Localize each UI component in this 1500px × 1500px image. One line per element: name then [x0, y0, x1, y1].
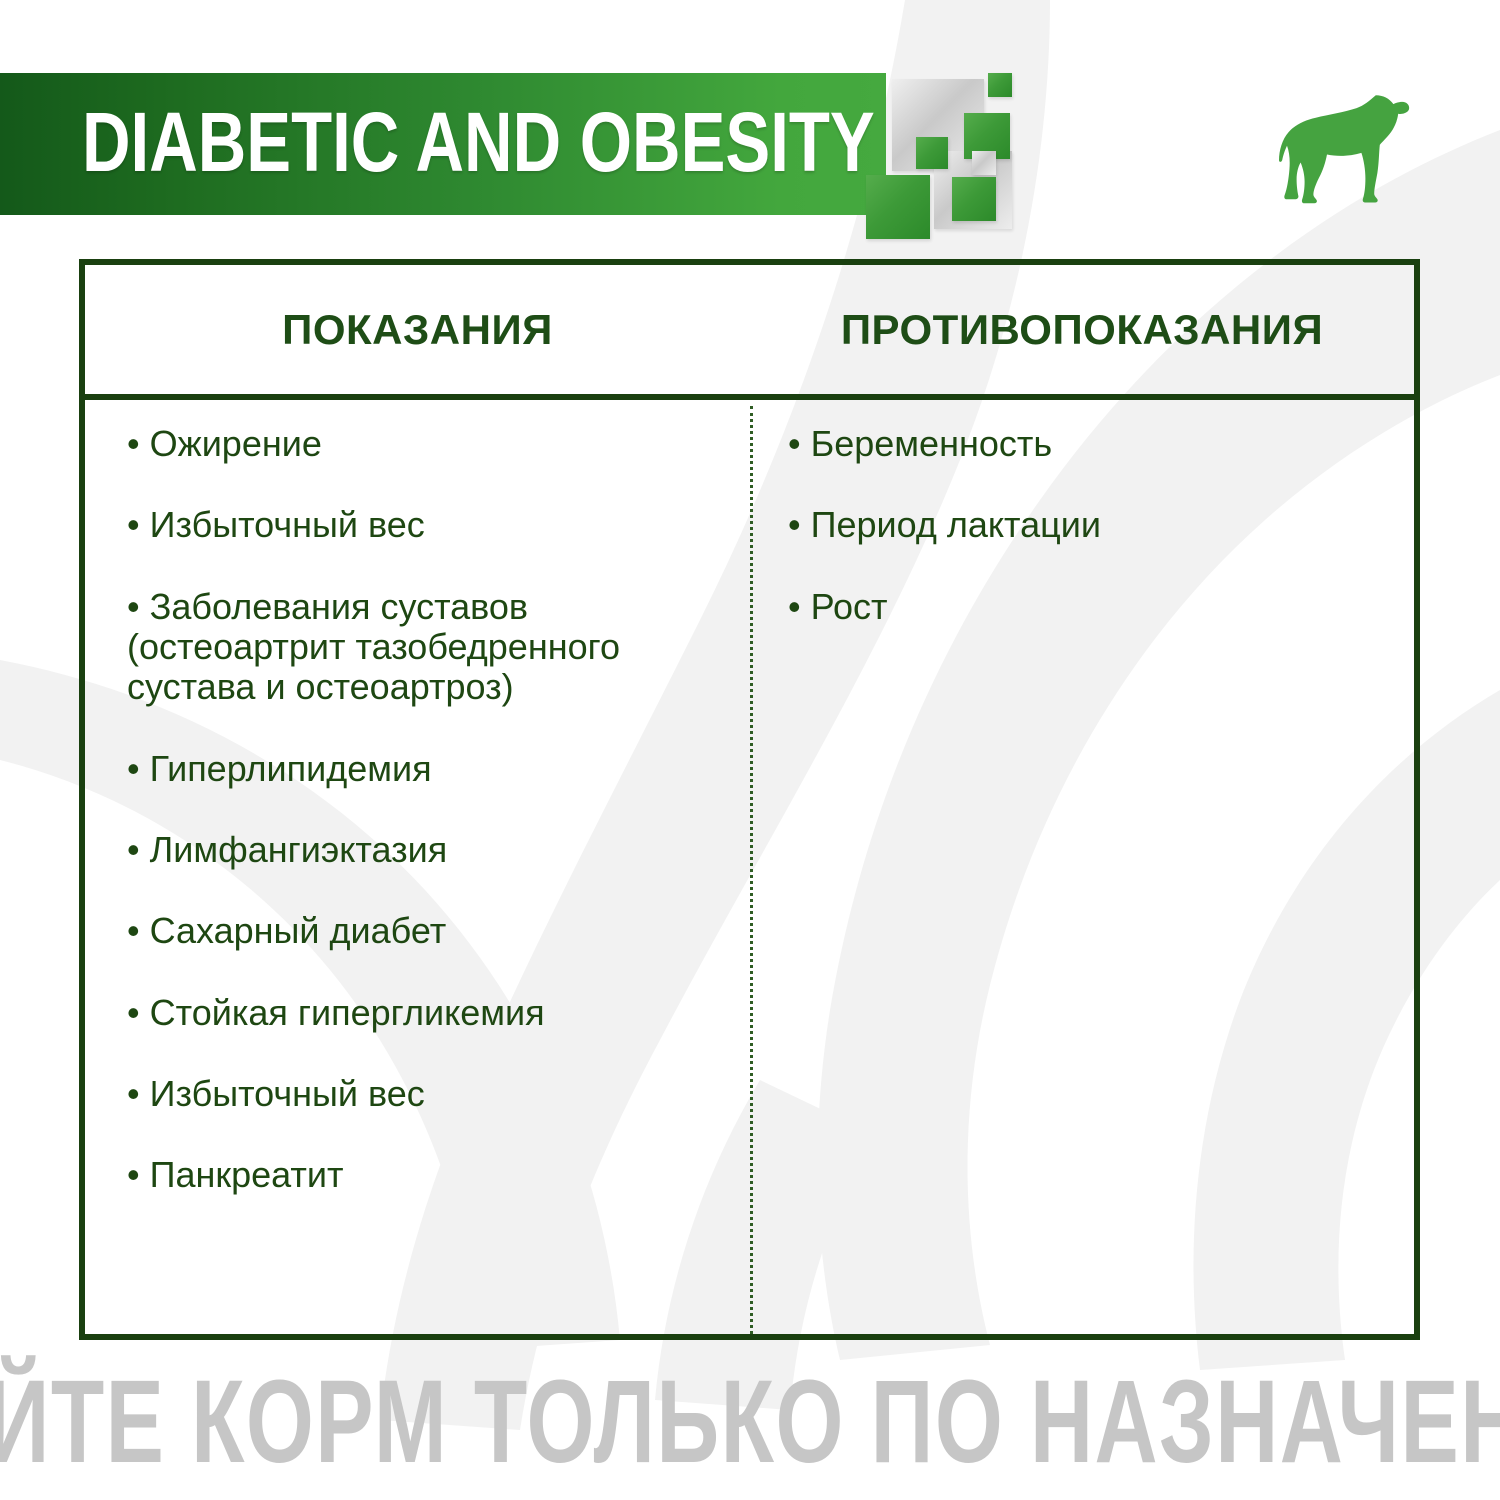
- list-item: • Панкреатит: [127, 1155, 734, 1195]
- dog-silhouette-icon: [1255, 78, 1415, 223]
- list-item-text: • Рост: [788, 586, 888, 627]
- list-item-text: • Беременность: [788, 423, 1052, 464]
- list-item-text: • Сахарный диабет: [127, 910, 446, 951]
- list-item-text: • Панкреатит: [127, 1154, 344, 1195]
- list-item: • Сахарный диабет: [127, 911, 734, 951]
- table-header-row: ПОКАЗАНИЯ ПРОТИВОПОКАЗАНИЯ: [85, 265, 1414, 400]
- list-item-text: • Период лактации: [788, 504, 1101, 545]
- list-item: • Ожирение: [127, 424, 734, 464]
- banner-title: DIABETIC AND OBESITY: [82, 71, 875, 213]
- column-header-contraindications: ПРОТИВОПОКАЗАНИЯ: [750, 265, 1414, 394]
- page-root: DIABETIC AND OBESITY ПОКАЗАНИЯ ПРОТИВОПО…: [0, 0, 1500, 1500]
- list-item-text: • Избыточный вес: [127, 1073, 425, 1114]
- list-item: • Избыточный вес: [127, 505, 734, 545]
- footer-note: ИСПОЛЬЗУЙТЕ КОРМ ТОЛЬКО ПО НАЗНАЧЕНИЮ ВР…: [0, 1352, 1500, 1492]
- contraindications-column: • Беременность • Период лактации • Рост: [750, 400, 1414, 1334]
- list-item: • Беременность: [788, 424, 1398, 464]
- list-item: • Стойкая гипергликемия: [127, 993, 734, 1033]
- indications-table: ПОКАЗАНИЯ ПРОТИВОПОКАЗАНИЯ • Ожирение • …: [79, 259, 1420, 1340]
- list-item: • Лимфангиэктазия: [127, 830, 734, 870]
- list-item: • Избыточный вес: [127, 1074, 734, 1114]
- footer-note-text: ИСПОЛЬЗУЙТЕ КОРМ ТОЛЬКО ПО НАЗНАЧЕНИЮ ВР…: [0, 1363, 1500, 1481]
- list-item: • Гиперлипидемия: [127, 749, 734, 789]
- list-item-text: • Стойкая гипергликемия: [127, 992, 545, 1033]
- list-item-text: • Избыточный вес: [127, 504, 425, 545]
- list-item-text: • Ожирение: [127, 423, 322, 464]
- list-item-text: • Заболевания суставов (остеоартрит тазо…: [127, 586, 620, 708]
- decorative-squares-icon: [868, 55, 1036, 233]
- column-header-indications: ПОКАЗАНИЯ: [85, 265, 750, 394]
- indications-column: • Ожирение • Избыточный вес • Заболевани…: [85, 400, 750, 1334]
- contraindications-list: • Беременность • Период лактации • Рост: [788, 424, 1398, 627]
- list-item: • Заболевания суставов (остеоартрит тазо…: [127, 587, 734, 708]
- list-item: • Рост: [788, 587, 1398, 627]
- table-body: • Ожирение • Избыточный вес • Заболевани…: [85, 400, 1414, 1334]
- header-banner: DIABETIC AND OBESITY: [0, 73, 1050, 223]
- list-item-text: • Гиперлипидемия: [127, 748, 432, 789]
- indications-list: • Ожирение • Избыточный вес • Заболевани…: [127, 424, 734, 1195]
- list-item-text: • Лимфангиэктазия: [127, 829, 447, 870]
- list-item: • Период лактации: [788, 505, 1398, 545]
